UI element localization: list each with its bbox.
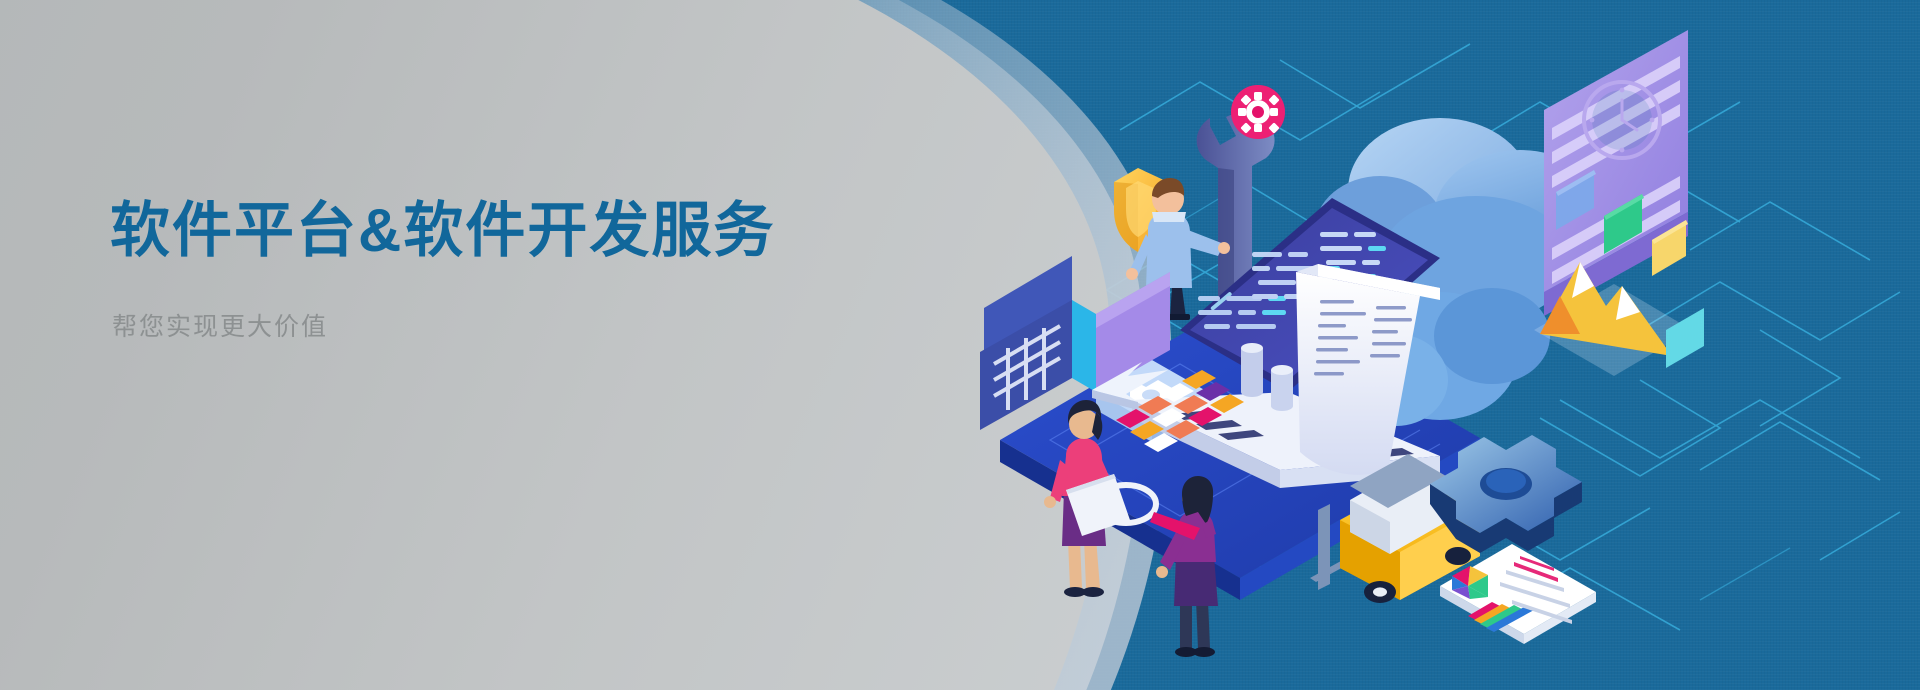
page-subtitle: 帮您实现更大价值 — [112, 307, 870, 343]
page-title: 软件平台&软件开发服务 — [110, 196, 870, 267]
hero-banner: 软件平台&软件开发服务 帮您实现更大价值 — [0, 0, 1920, 690]
banner-copy: 软件平台&软件开发服务 帮您实现更大价值 — [110, 196, 870, 343]
clock-icon — [1584, 82, 1660, 158]
gear-badge-icon — [1231, 85, 1285, 139]
document-panel — [1544, 30, 1688, 316]
hero-illustration — [880, 0, 1920, 690]
